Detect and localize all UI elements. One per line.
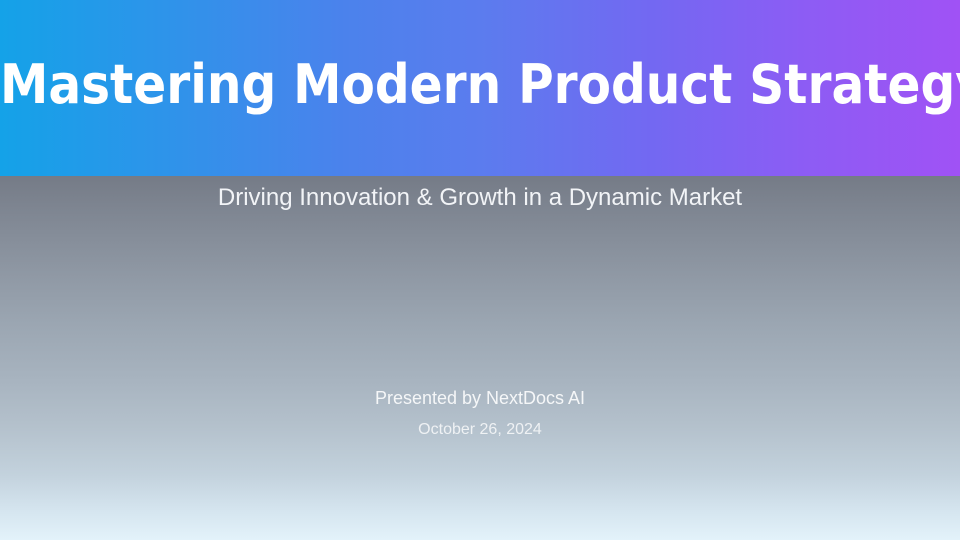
presenter-credit: Presented by NextDocs AI — [0, 387, 960, 410]
slide-title: Mastering Modern Product Strategy — [0, 50, 960, 120]
title-slide: Mastering Modern Product Strategy Drivin… — [0, 0, 960, 540]
slide-subtitle: Driving Innovation & Growth in a Dynamic… — [0, 183, 960, 213]
presentation-date: October 26, 2024 — [0, 419, 960, 440]
